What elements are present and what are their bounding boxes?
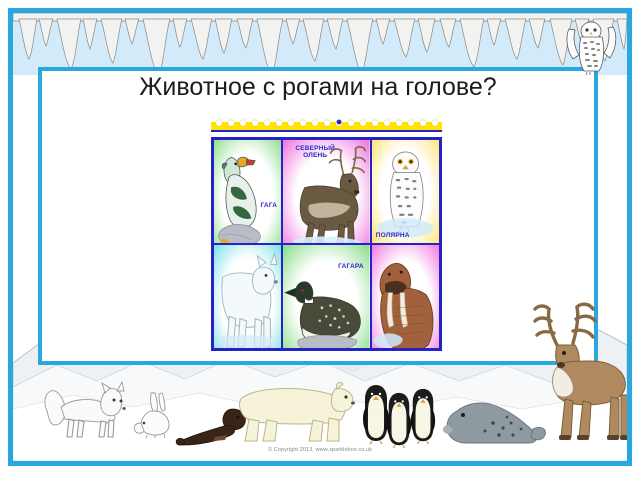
walrus-icon [372, 245, 439, 349]
animal-poster: ГАГА [211, 119, 442, 346]
poster-top-strip [211, 119, 442, 132]
loon-icon [283, 245, 370, 349]
slide: Животное с рогами на голове? [0, 0, 640, 480]
arctic-hare-icon [131, 389, 175, 439]
poster-cell-label-eider: ГАГА [260, 202, 277, 209]
poster-cell-eider-duck[interactable]: ГАГА [213, 139, 282, 244]
poster-cell-snowy-owl[interactable]: ПОЛЯРНА [371, 139, 440, 244]
polar-bear-icon [231, 373, 355, 447]
poster-cell-reindeer[interactable]: СЕВЕРНЫЙ ОЛЕНЬ [282, 139, 371, 244]
sky-band [13, 13, 627, 75]
poster-cell-label-reindeer: СЕВЕРНЫЙ ОЛЕНЬ [289, 145, 341, 160]
eider-duck-icon [214, 140, 281, 244]
poster-copyright: © Copyright 2013, www.sparklebox.co.uk [13, 447, 627, 453]
content-panel: Животное с рогами на голове? [38, 67, 598, 365]
page-title: Животное с рогами на голове? [42, 71, 594, 102]
poster-cell-loon[interactable]: ГАГАРА [282, 244, 371, 349]
poster-cell-arctic-wolf[interactable] [213, 244, 282, 349]
poster-grid: ГАГА [211, 137, 442, 351]
penguin-3-icon [409, 387, 437, 445]
poster-cell-walrus[interactable] [371, 244, 440, 349]
slide-frame: Животное с рогами на голове? [8, 8, 632, 466]
poster-cell-label-loon: ГАГАРА [338, 263, 364, 270]
arctic-fox-icon [43, 377, 129, 443]
arctic-wolf-icon [214, 245, 281, 349]
poster-cell-label-owl: ПОЛЯРНА [376, 232, 410, 239]
snowy-owl-poster-icon [372, 140, 439, 244]
icicles-border-icon [13, 13, 627, 75]
reindeer-scene-icon [521, 299, 632, 449]
snowy-owl-icon [563, 15, 621, 77]
